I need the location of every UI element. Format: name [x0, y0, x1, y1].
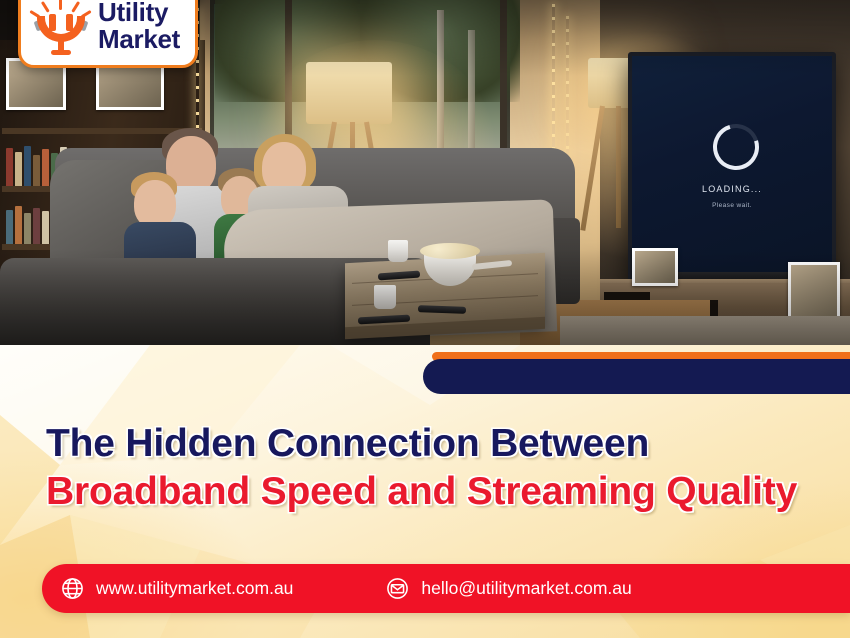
email-address: hello@utilitymarket.com.au	[421, 578, 631, 599]
tv-wait-label: Please wait.	[632, 202, 832, 209]
headline-line-2: Broadband Speed and Streaming Quality	[46, 468, 836, 516]
headline-block: The Hidden Connection Between Broadband …	[46, 420, 836, 515]
framed-photo	[632, 248, 678, 286]
envelope-icon	[385, 576, 410, 601]
coffee-mug	[388, 240, 408, 262]
coffee-mug	[374, 285, 396, 309]
brand-wordmark: Utility Market	[98, 0, 180, 53]
area-rug	[560, 316, 850, 346]
website-url: www.utilitymarket.com.au	[96, 578, 293, 599]
plug-socket-icon	[33, 2, 89, 56]
tv-loading-label: LOADING...	[632, 184, 832, 194]
lamp-leg	[616, 106, 621, 228]
headline-line-1: The Hidden Connection Between	[46, 420, 836, 468]
accent-bar	[423, 359, 850, 394]
popcorn	[420, 243, 480, 259]
email-contact[interactable]: hello@utilitymarket.com.au	[385, 564, 631, 613]
contact-bar: www.utilitymarket.com.au hello@utilityma…	[42, 564, 850, 613]
brand-name-line1: Utility	[98, 0, 180, 26]
globe-icon	[60, 576, 85, 601]
floor-lamp-shade	[306, 62, 392, 124]
social-post-card: LOADING... Please wait.	[0, 0, 850, 638]
brand-logo-badge[interactable]: Utility Market	[18, 0, 198, 68]
brand-name-line2: Market	[98, 26, 180, 53]
website-contact[interactable]: www.utilitymarket.com.au	[60, 564, 293, 613]
